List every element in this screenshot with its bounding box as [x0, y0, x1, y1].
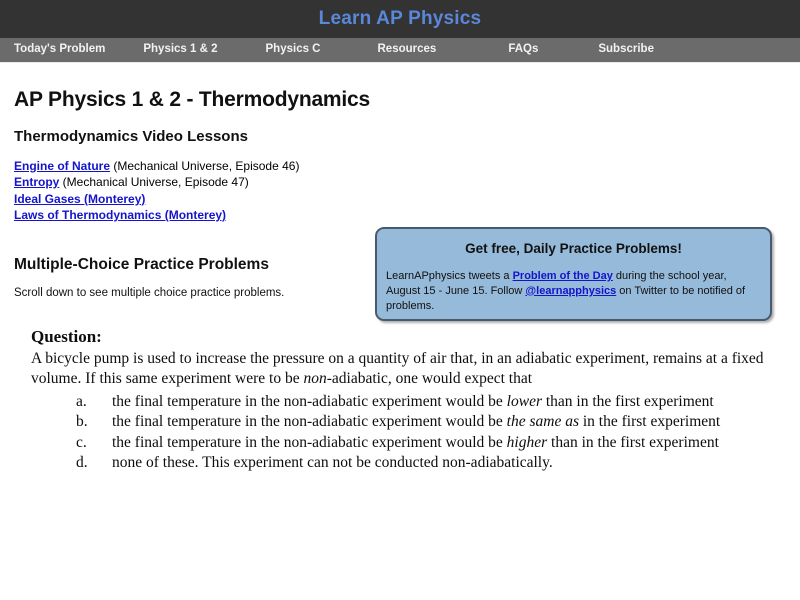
list-item: Engine of Nature (Mechanical Universe, E… — [14, 158, 786, 175]
choice-emphasis-c: higher — [507, 434, 547, 451]
nav-item-resources[interactable]: Resources — [378, 44, 437, 56]
choice-text-c-part-1: the final temperature in the non-adiabat… — [112, 434, 507, 451]
question-text: A bicycle pump is used to increase the p… — [31, 349, 773, 390]
question-emphasis: non — [303, 370, 326, 387]
page-content: AP Physics 1 & 2 - Thermodynamics Thermo… — [0, 88, 800, 474]
video-link-suffix: (Mechanical Universe, Episode 46) — [110, 159, 299, 173]
question-label: Question: — [31, 326, 786, 347]
nav-item-physics-c[interactable]: Physics C — [266, 44, 321, 56]
question-text-part-2: -adiabatic, one would expect that — [327, 370, 532, 387]
promo-link-learnapphysics-twitter[interactable]: @learnapphysics — [525, 285, 616, 297]
list-item: Entropy (Mechanical Universe, Episode 47… — [14, 174, 786, 191]
list-item: Laws of Thermodynamics (Monterey) — [14, 207, 786, 224]
video-link-ideal-gases[interactable]: Ideal Gases (Monterey) — [14, 192, 145, 206]
video-link-engine-of-nature[interactable]: Engine of Nature — [14, 159, 110, 173]
choice-text-c-part-2: than in the first experiment — [547, 434, 719, 451]
promo-title: Get free, Daily Practice Problems! — [377, 242, 770, 257]
choice-marker-d: d. — [76, 453, 88, 474]
answer-choice-d[interactable]: d.none of these. This experiment can not… — [31, 453, 786, 474]
main-navigation: Today's Problem Physics 1 & 2 Physics C … — [0, 38, 800, 63]
promo-text-1: LearnAPphysics tweets a — [386, 270, 513, 282]
page-title: AP Physics 1 & 2 - Thermodynamics — [14, 88, 786, 111]
promo-link-problem-of-the-day[interactable]: Problem of the Day — [513, 270, 613, 282]
choice-emphasis-b: the same as — [507, 413, 579, 430]
question-block: Question: A bicycle pump is used to incr… — [31, 326, 786, 473]
promo-body: LearnAPphysics tweets a Problem of the D… — [386, 269, 761, 314]
daily-practice-promo-box: Get free, Daily Practice Problems! Learn… — [375, 227, 772, 321]
video-link-entropy[interactable]: Entropy — [14, 175, 59, 189]
choice-text-d-part-1: none of these. This experiment can not b… — [112, 454, 553, 471]
video-link-laws-of-thermodynamics[interactable]: Laws of Thermodynamics (Monterey) — [14, 208, 226, 222]
video-lessons-list: Engine of Nature (Mechanical Universe, E… — [14, 158, 786, 224]
answer-choices-list: a.the final temperature in the non-adiab… — [31, 392, 786, 474]
video-lessons-heading: Thermodynamics Video Lessons — [14, 129, 786, 146]
site-header: Learn AP Physics — [0, 0, 800, 38]
choice-text-a-part-2: than in the first experiment — [542, 393, 714, 410]
nav-item-todays-problem[interactable]: Today's Problem — [14, 44, 105, 56]
nav-item-faqs[interactable]: FAQs — [508, 44, 538, 56]
answer-choice-b[interactable]: b.the final temperature in the non-adiab… — [31, 412, 786, 433]
site-title: Learn AP Physics — [319, 9, 482, 28]
choice-text-b-part-1: the final temperature in the non-adiabat… — [112, 413, 507, 430]
choice-text-b-part-2: in the first experiment — [579, 413, 720, 430]
choice-marker-c: c. — [76, 433, 87, 454]
answer-choice-a[interactable]: a.the final temperature in the non-adiab… — [31, 392, 786, 413]
choice-text-a-part-1: the final temperature in the non-adiabat… — [112, 393, 507, 410]
choice-marker-b: b. — [76, 412, 88, 433]
nav-item-subscribe[interactable]: Subscribe — [598, 44, 654, 56]
video-link-suffix: (Mechanical Universe, Episode 47) — [59, 175, 248, 189]
nav-item-physics-1-and-2[interactable]: Physics 1 & 2 — [143, 44, 217, 56]
choice-emphasis-a: lower — [507, 393, 542, 410]
answer-choice-c[interactable]: c.the final temperature in the non-adiab… — [31, 433, 786, 454]
choice-marker-a: a. — [76, 392, 87, 413]
list-item: Ideal Gases (Monterey) — [14, 191, 786, 208]
